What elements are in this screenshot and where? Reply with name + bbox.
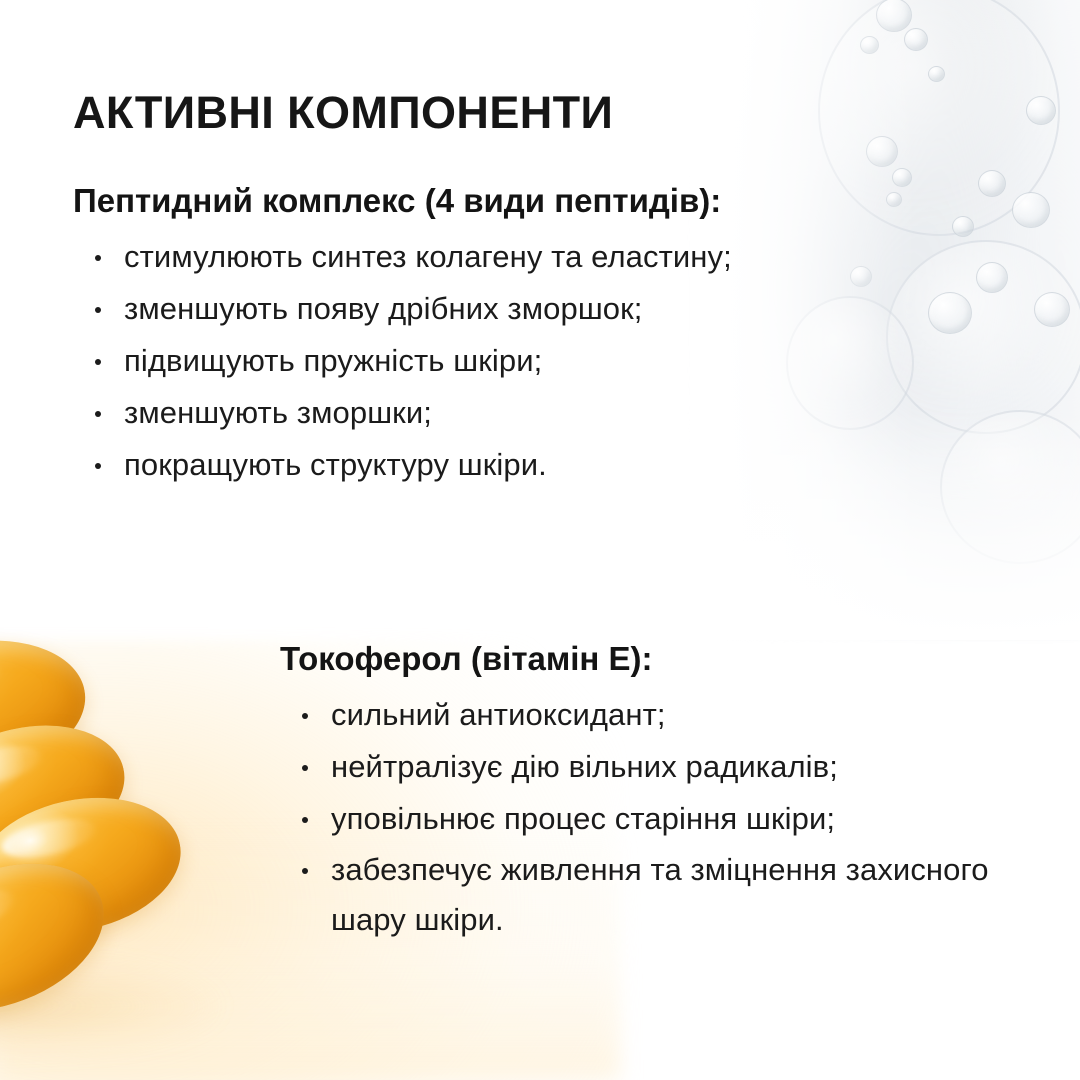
content-layer: АКТИВНІ КОМПОНЕНТИ Пептидний комплекс (4… [0,0,1080,1080]
section-heading-tocopherol: Токоферол (вітамін Е): [280,638,1020,679]
list-item: зменшують зморшки; [73,387,873,439]
bullet-list-peptide-complex: стимулюють синтез колагену та еластину; … [73,231,873,491]
list-item: підвищують пружність шкіри; [73,335,873,387]
list-item: забезпечує живлення та зміцнення захисно… [280,845,1020,945]
list-item: уповільнює процес старіння шкіри; [280,793,1020,845]
list-item: покращують структуру шкіри. [73,439,873,491]
bullet-list-tocopherol: сильний антиоксидант; нейтралізує дію ві… [280,689,1020,945]
infographic-canvas: АКТИВНІ КОМПОНЕНТИ Пептидний комплекс (4… [0,0,1080,1080]
section-heading-peptide-complex: Пептидний комплекс (4 види пептидів): [73,180,873,221]
list-item: зменшують появу дрібних зморшок; [73,283,873,335]
section-peptide-complex: Пептидний комплекс (4 види пептидів): ст… [73,180,873,491]
list-item: нейтралізує дію вільних радикалів; [280,741,1020,793]
section-tocopherol: Токоферол (вітамін Е): сильний антиоксид… [280,638,1020,945]
page-title: АКТИВНІ КОМПОНЕНТИ [73,88,613,138]
list-item: стимулюють синтез колагену та еластину; [73,231,873,283]
list-item: сильний антиоксидант; [280,689,1020,741]
